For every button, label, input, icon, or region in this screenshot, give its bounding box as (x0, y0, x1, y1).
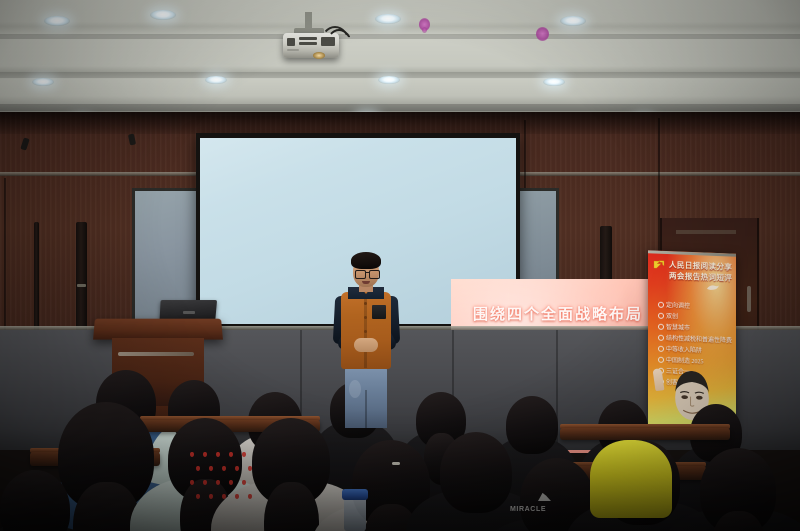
strawberry-print-icon (235, 466, 239, 471)
strawberry-print-icon (190, 480, 194, 485)
strawberry-print-icon (222, 466, 226, 471)
strawberry-print-icon (229, 452, 233, 457)
audience-member-yellow-jacket (590, 440, 672, 518)
water-bottle-cap[interactable] (342, 489, 368, 500)
vest-button-icon (364, 330, 367, 333)
wall-trim-strip (34, 222, 39, 340)
banner-list-item-label: 中等收入陷阱 (666, 344, 702, 354)
audience-member-head (506, 396, 558, 454)
bullet-icon (658, 323, 664, 329)
bench-row (560, 428, 730, 440)
presenter-jeans-fade (349, 380, 361, 398)
glasses-icon (369, 270, 380, 279)
strawberry-print-icon (216, 480, 220, 485)
bullet-icon (658, 312, 664, 318)
banner-list-item-label: 智慧城市 (666, 322, 690, 332)
presenter-jeans-seam (365, 390, 367, 428)
banner-list-item-label: 双创 (666, 311, 678, 320)
strawberry-print-icon (248, 466, 252, 471)
ceiling-beam (0, 34, 800, 39)
strawberry-print-icon (222, 494, 226, 499)
banner-list-item-label: 定向调控 (666, 300, 690, 310)
door-vent-icon (676, 230, 736, 234)
wall-top-shadow (0, 112, 800, 134)
ceiling-downlight-icon (378, 76, 400, 84)
ceiling-downlight-icon (543, 78, 565, 86)
lectern-trim (118, 352, 194, 356)
ceiling-downlight-icon (150, 10, 176, 20)
ceiling-downlight-icon (32, 78, 54, 86)
ceiling-downlight-icon (560, 16, 586, 26)
bullet-icon (658, 301, 664, 307)
audience-member-head (440, 432, 512, 513)
bullet-icon (658, 334, 664, 340)
strawberry-print-icon (242, 452, 246, 457)
ceiling-beam (0, 72, 800, 78)
banner-header-line-2: 两会报告热词短评 (669, 270, 735, 284)
strawberry-print-icon (209, 466, 213, 471)
party-emblem-icon (652, 258, 667, 271)
projector-lens-icon (313, 52, 325, 59)
strawberry-print-icon (229, 480, 233, 485)
strawberry-print-icon (203, 452, 207, 457)
strawberry-print-icon (209, 494, 213, 499)
lecture-hall-photo: 围绕四个全面战略布局 争做全面发展好学生 研究生第二十五党支部"主题党日活动" … (0, 0, 800, 531)
strawberry-print-icon (242, 480, 246, 485)
door-handle-icon[interactable] (747, 286, 751, 312)
presenter-clasped-hands (354, 338, 378, 352)
shirt-graphic-text: MIRACLE (510, 506, 546, 513)
strawberry-print-icon (248, 494, 252, 499)
lectern-top (93, 319, 223, 340)
slide-title-line-1: 围绕四个全面战略布局 (451, 303, 665, 324)
strawberry-print-icon (190, 452, 194, 457)
vest-button-icon (364, 302, 367, 305)
strawberry-print-icon (203, 480, 207, 485)
laptop-logo-icon (183, 311, 195, 314)
wall-panel-seam (4, 178, 6, 338)
glasses-bridge-icon (365, 272, 369, 273)
bullet-icon (658, 345, 664, 351)
strawberry-print-icon (196, 494, 200, 499)
strawberry-print-icon (216, 452, 220, 457)
ceiling-downlight-icon (44, 16, 70, 26)
presenter-vest-pocket (372, 305, 386, 319)
vest-button-icon (364, 316, 367, 319)
ceiling-downlight-icon (205, 76, 227, 84)
ceiling-downlight-icon (375, 14, 401, 24)
hair-clip-icon (392, 462, 400, 465)
dove-icon (706, 283, 720, 293)
strawberry-print-icon (196, 466, 200, 471)
sensor-indicator-icon (422, 27, 427, 33)
bullet-icon (658, 356, 664, 362)
strawberry-print-icon (235, 494, 239, 499)
presenter-hair (351, 252, 381, 269)
sensor-indicator-icon (536, 27, 549, 41)
